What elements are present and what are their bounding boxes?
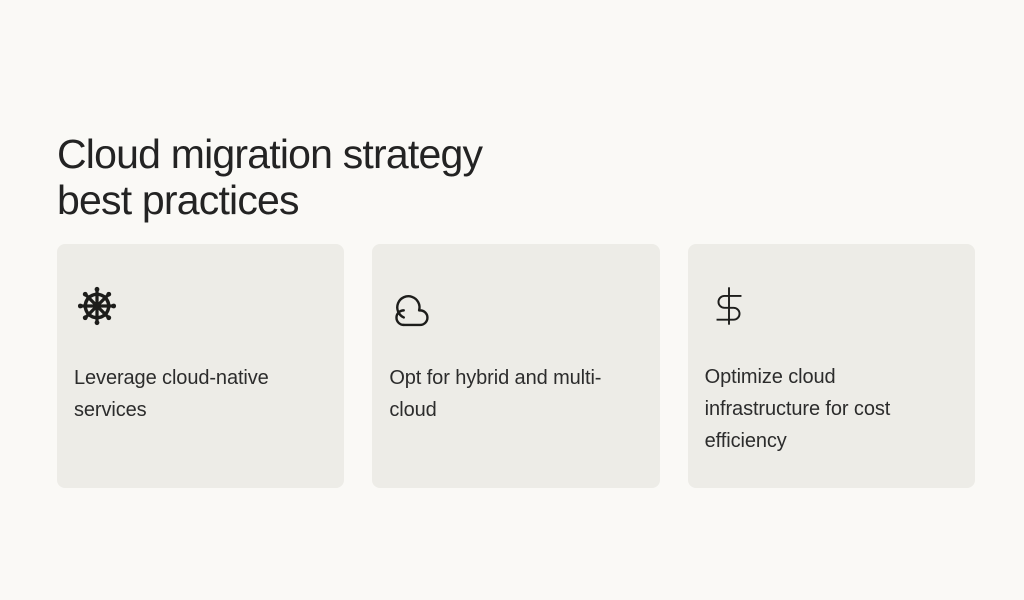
best-practice-card[interactable]: Optimize cloud infrastructure for cost e… (688, 244, 975, 488)
dollar-sign-icon (706, 283, 752, 329)
best-practice-label: Leverage cloud-native services (74, 362, 344, 426)
best-practice-card[interactable]: Opt for hybrid and multi-cloud (372, 244, 659, 488)
best-practice-label: Opt for hybrid and multi-cloud (389, 362, 659, 426)
slide-root: Cloud migration strategy best practices (0, 0, 1024, 600)
best-practice-label: Optimize cloud infrastructure for cost e… (705, 361, 975, 457)
helm-wheel-icon (74, 283, 120, 329)
cloud-icon (389, 289, 435, 335)
best-practice-card[interactable]: Leverage cloud-native services (57, 244, 344, 488)
page-title: Cloud migration strategy best practices (57, 131, 757, 223)
best-practices-card-row: Leverage cloud-native services Opt for h… (57, 244, 975, 488)
